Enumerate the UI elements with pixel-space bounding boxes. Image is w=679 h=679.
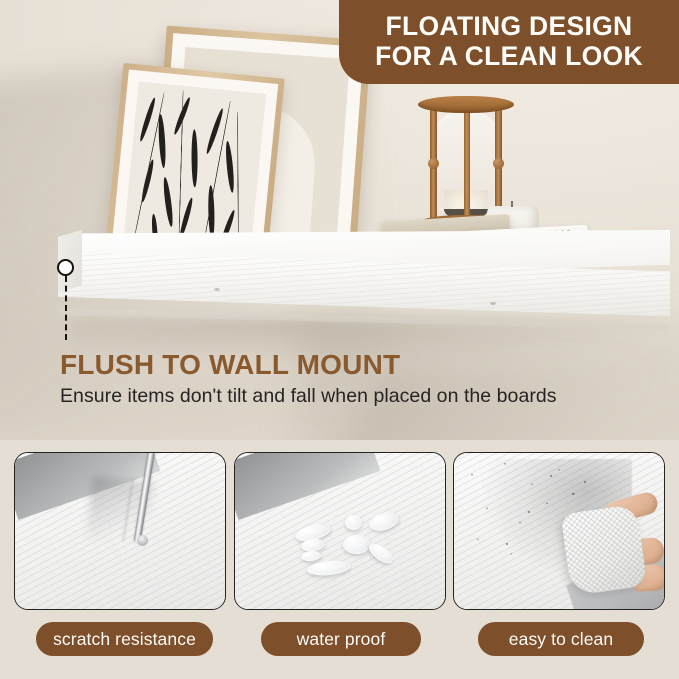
panel-scratch-resistance (14, 452, 226, 610)
hourglass-knob (493, 158, 504, 169)
dust-speck (528, 511, 530, 513)
pill-water-proof: water proof (261, 622, 421, 656)
shelf-screw (490, 302, 496, 305)
water-droplet (343, 535, 370, 554)
pill-easy-to-clean: easy to clean (478, 622, 644, 656)
panel-water-proof (234, 452, 446, 610)
feature-subline: Ensure items don't tilt and fall when pl… (60, 385, 557, 408)
dust-speck (572, 493, 574, 495)
hourglass-knob (428, 158, 439, 169)
floating-shelf (40, 222, 679, 352)
feature-headline: FLUSH TO WALL MOUNT (60, 349, 400, 381)
shelf-screw (214, 288, 220, 291)
panel-easy-to-clean (453, 452, 665, 610)
dust-speck (550, 475, 552, 477)
hourglass-cap-top (418, 96, 514, 113)
pill-scratch-resistance: scratch resistance (36, 622, 213, 656)
banner-line-2: FOR A CLEAN LOOK (375, 42, 643, 72)
flush-mount-callout-dot (57, 259, 74, 276)
headline-banner: FLOATING DESIGN FOR A CLEAN LOOK (339, 0, 679, 84)
water-droplet (345, 515, 362, 530)
hourglass-post (464, 108, 470, 222)
candle-wick (511, 201, 513, 207)
product-infographic: FLOATING DESIGN FOR A CLEAN LOOK FLUSH T… (0, 0, 679, 679)
cleaning-cloth (561, 504, 648, 596)
dust-speck (584, 481, 586, 483)
banner-line-1: FLOATING DESIGN (386, 12, 633, 42)
flush-mount-callout-leader (65, 276, 67, 340)
cloth-texture (561, 504, 648, 596)
dust-speck (506, 543, 508, 545)
